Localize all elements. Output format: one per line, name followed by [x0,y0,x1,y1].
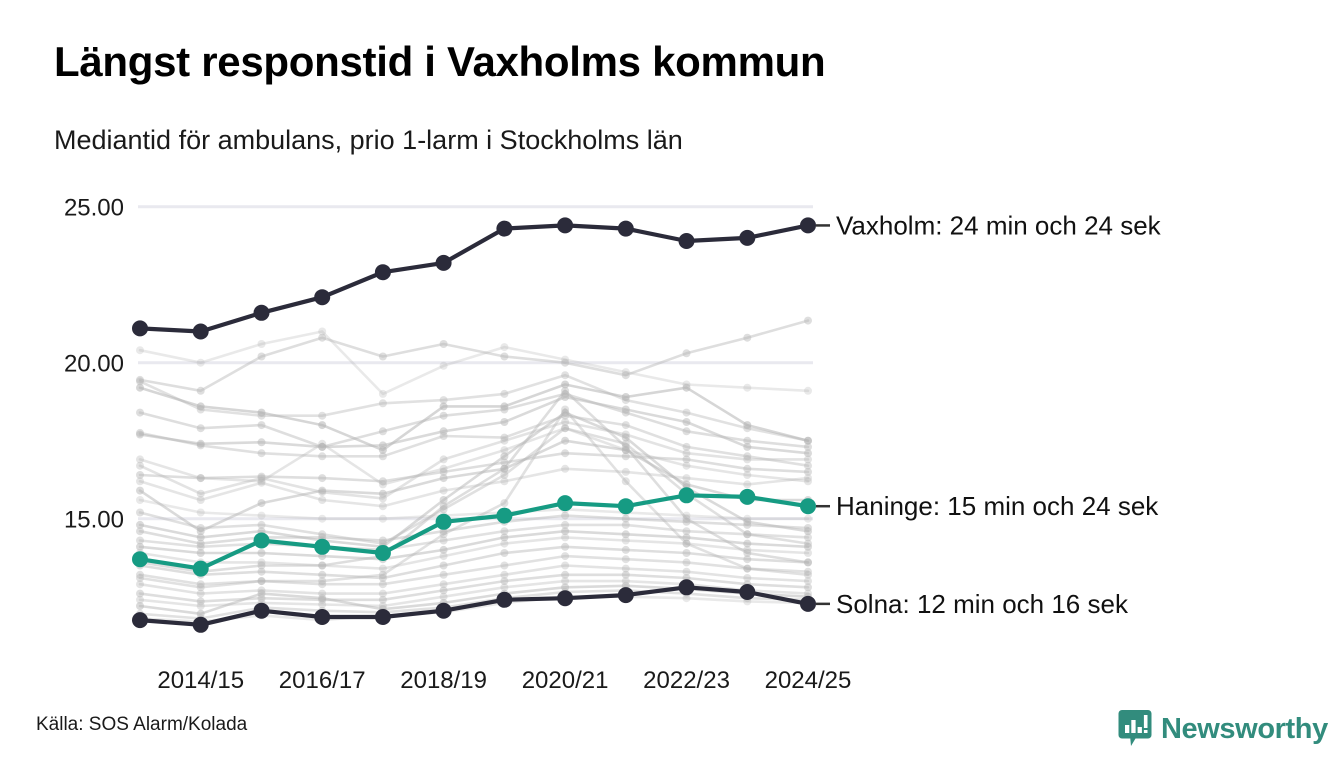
data-point [136,602,144,610]
x-axis-tick-label: 2022/23 [643,667,730,694]
data-point [197,496,205,504]
data-point [679,579,695,595]
data-point [800,217,816,233]
data-point [197,533,205,541]
data-point [683,549,691,557]
y-axis-tick-label: 20.00 [64,351,124,378]
data-point [561,533,569,541]
data-point [622,537,630,545]
newsworthy-logo: Newsworthy [1118,706,1328,752]
data-point [314,609,330,625]
data-point [258,421,266,429]
data-point [743,549,751,557]
data-point [561,437,569,445]
data-point [375,609,391,625]
data-point [258,438,266,446]
data-point [197,583,205,591]
data-point [379,390,387,398]
series-background [136,371,812,445]
data-point [622,446,630,454]
data-point [379,502,387,510]
data-point [622,396,630,404]
series-label: Solna: 12 min och 16 sek [836,589,1129,619]
data-point [379,427,387,435]
newsworthy-mark-icon [1118,709,1152,749]
data-point [743,334,751,342]
data-point [561,465,569,473]
data-point [743,437,751,445]
data-point [254,305,270,321]
data-point [136,429,144,437]
data-point [440,552,448,560]
data-point [136,496,144,504]
data-point [375,545,391,561]
data-point [314,289,330,305]
x-axis-tick-label: 2014/15 [157,667,244,694]
data-point [743,518,751,526]
data-point [804,549,812,557]
data-point [500,343,508,351]
data-point [436,514,452,530]
data-point [254,603,270,619]
data-point [683,418,691,426]
data-point [622,521,630,529]
data-point [379,490,387,498]
data-point [500,406,508,414]
line-chart: 15.0020.0025.00Vaxholm: 24 min och 24 se… [0,0,1340,780]
data-point [379,452,387,460]
data-point [197,359,205,367]
series-label: Haninge: 15 min och 24 sek [836,491,1159,521]
data-point [743,480,751,488]
data-point [500,499,508,507]
data-point [436,603,452,619]
data-point [440,340,448,348]
data-point [197,549,205,557]
data-point [318,487,326,495]
data-point [136,477,144,485]
data-point [804,558,812,566]
data-point [197,387,205,395]
data-point [496,592,512,608]
data-point [804,455,812,463]
data-point [197,602,205,610]
data-point [440,487,448,495]
data-point [440,432,448,440]
data-point [318,594,326,602]
data-point [500,465,508,473]
data-point [496,508,512,524]
data-point [375,264,391,280]
data-point [197,406,205,414]
data-point [679,233,695,249]
data-point [804,443,812,451]
data-point [622,468,630,476]
data-point [440,502,448,510]
series-line [140,225,808,331]
data-point [804,477,812,485]
data-point [440,474,448,482]
data-point [258,340,266,348]
data-point [743,384,751,392]
data-point [136,487,144,495]
data-point [258,477,266,485]
data-point [197,474,205,482]
data-point [197,424,205,432]
data-point [440,396,448,404]
data-point [622,368,630,376]
data-point [379,441,387,449]
data-point [440,455,448,463]
data-point [379,399,387,407]
data-point [739,489,755,505]
x-axis-tick-label: 2024/25 [765,667,852,694]
data-point [500,418,508,426]
data-point [440,465,448,473]
data-point [136,455,144,463]
data-point [500,390,508,398]
y-axis-tick-label: 25.00 [64,195,124,222]
data-point [557,495,573,511]
data-point [561,562,569,570]
data-point [197,509,205,517]
data-point [622,421,630,429]
data-point [561,512,569,520]
data-point [318,577,326,585]
x-axis-tick-label: 2020/21 [522,667,609,694]
data-point [500,549,508,557]
y-axis-tick-label: 15.00 [64,507,124,534]
data-point [743,424,751,432]
data-point [318,443,326,451]
data-point [561,449,569,457]
data-point [683,427,691,435]
data-point [258,499,266,507]
data-point [743,455,751,463]
data-point [132,612,148,628]
data-point [136,521,144,529]
data-point [318,562,326,570]
data-point [804,571,812,579]
data-point [683,558,691,566]
data-point [258,549,266,557]
data-point [254,533,270,549]
data-point [318,412,326,420]
data-point [622,546,630,554]
data-point [683,540,691,548]
data-point [132,320,148,336]
data-point [500,446,508,454]
data-point [197,524,205,532]
data-point [136,574,144,582]
data-point [557,590,573,606]
data-point [318,452,326,460]
data-point [258,353,266,361]
data-point [804,387,812,395]
data-point [136,346,144,354]
chart-page: Längst responstid i Vaxholms kommun Medi… [0,0,1340,780]
data-point [379,353,387,361]
data-point [683,594,691,602]
data-point [743,530,751,538]
data-point [379,480,387,488]
data-point [743,471,751,479]
data-point [743,565,751,573]
data-point [440,562,448,570]
x-axis-tick-label: 2018/19 [400,667,487,694]
data-point [436,255,452,271]
series-background [136,412,812,470]
data-point [739,230,755,246]
data-point [683,515,691,523]
data-point [318,496,326,504]
data-point [258,512,266,520]
data-point [440,362,448,370]
data-point [379,571,387,579]
data-point [500,562,508,570]
data-point [683,349,691,357]
series-highlighted [132,579,816,633]
data-point [679,487,695,503]
data-point [561,406,569,414]
data-point [561,552,569,560]
data-point [258,562,266,570]
data-point [136,409,144,417]
data-point [804,540,812,548]
data-point [318,474,326,482]
data-point [622,434,630,442]
data-point [622,555,630,563]
data-point [496,221,512,237]
data-point [683,381,691,389]
data-point [561,390,569,398]
data-point [804,527,812,535]
data-point [132,551,148,567]
data-point [618,587,634,603]
data-point [561,356,569,364]
data-point [193,324,209,340]
data-point [557,217,573,233]
data-point [500,437,508,445]
data-point [318,515,326,523]
source-note: Källa: SOS Alarm/Kolada [36,714,247,736]
data-point [800,596,816,612]
data-point [318,421,326,429]
data-point [379,515,387,523]
data-point [136,509,144,517]
data-point [193,561,209,577]
data-point [258,412,266,420]
series-highlighted [132,217,816,339]
data-point [622,477,630,485]
x-axis-tick-label: 2016/17 [279,667,366,694]
data-point [440,571,448,579]
series-label: Vaxholm: 24 min och 24 sek [836,210,1162,240]
data-point [440,412,448,420]
data-point [258,577,266,585]
data-point [258,590,266,598]
data-point [800,498,816,514]
data-point [618,498,634,514]
data-point [136,377,144,385]
data-point [440,530,448,538]
data-point [804,515,812,523]
logo-wordmark: Newsworthy [1161,715,1328,744]
data-point [683,462,691,470]
data-point [561,371,569,379]
data-point [739,584,755,600]
data-point [561,424,569,432]
data-point [197,441,205,449]
data-point [500,353,508,361]
data-point [500,540,508,548]
data-point [618,221,634,237]
data-point [622,409,630,417]
data-point [804,317,812,325]
data-point [314,539,330,555]
data-point [318,328,326,336]
data-point [561,543,569,551]
data-point [379,580,387,588]
data-point [193,617,209,633]
data-point [258,449,266,457]
data-point [683,409,691,417]
